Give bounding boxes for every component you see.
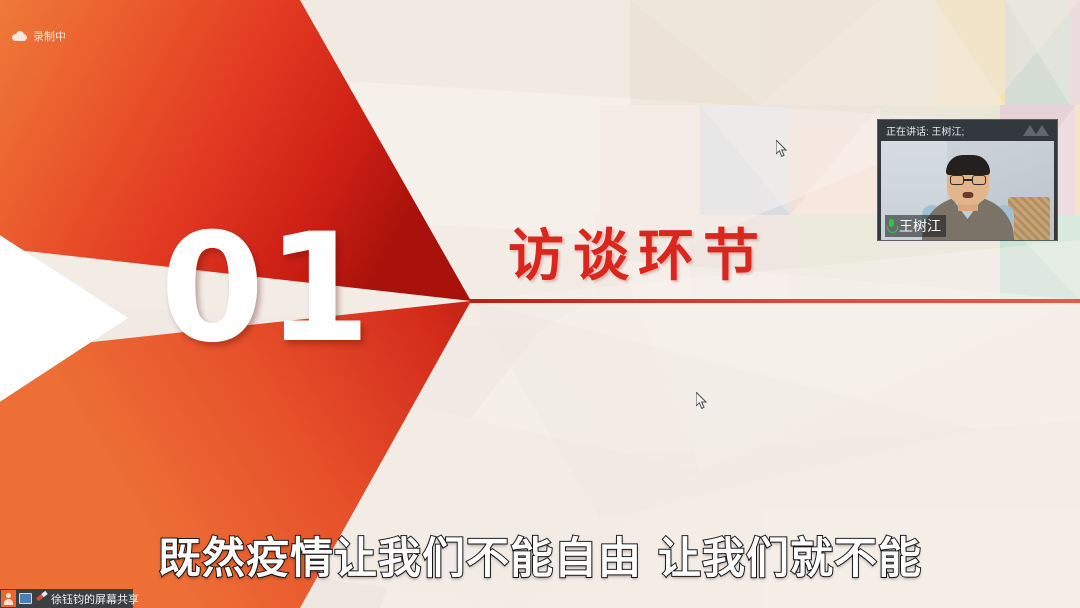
pointer-cursor-upper bbox=[776, 140, 788, 159]
video-panel-header: 正在讲话: 王树江; bbox=[878, 120, 1057, 141]
screen-share-label: 徐钰钧的屏幕共享 bbox=[51, 591, 139, 607]
recording-label: 录制中 bbox=[33, 28, 66, 44]
participant-icon[interactable] bbox=[1, 590, 16, 607]
participant-name-badge: 王树江 bbox=[885, 215, 946, 237]
subtitle-caption: 既然疫情让我们不能自由 让我们就不能 bbox=[0, 524, 1080, 586]
pointer-cursor-lower bbox=[696, 392, 708, 411]
recording-indicator: 录制中 bbox=[12, 28, 66, 44]
video-basket-prop bbox=[1008, 197, 1050, 241]
microphone-icon bbox=[887, 219, 896, 233]
presentation-screen: 01 访谈环节 录制中 既然疫情让我们不能自由 让我们就不能 正在讲话: 王树江… bbox=[0, 0, 1080, 608]
annotate-pen-icon[interactable] bbox=[35, 592, 48, 605]
video-person-hair bbox=[946, 155, 990, 175]
video-person-glasses bbox=[950, 175, 986, 185]
screen-share-taskbar[interactable]: 徐钰钧的屏幕共享 bbox=[0, 589, 133, 608]
video-person-mouth bbox=[962, 192, 973, 198]
cloud-icon bbox=[12, 31, 27, 41]
title-underline-rule bbox=[470, 299, 1080, 303]
double-chevron-collapse-icon[interactable] bbox=[1023, 125, 1049, 136]
video-feed: 王树江 bbox=[881, 141, 1054, 241]
section-title: 访谈环节 bbox=[508, 226, 768, 288]
video-thumbnail-panel[interactable]: 正在讲话: 王树江; 王树江 bbox=[877, 119, 1058, 241]
monitor-icon[interactable] bbox=[19, 593, 32, 604]
active-speaker-label: 正在讲话: 王树江; bbox=[886, 123, 964, 138]
participant-name: 王树江 bbox=[899, 216, 941, 236]
slide-number: 01 bbox=[160, 214, 373, 364]
